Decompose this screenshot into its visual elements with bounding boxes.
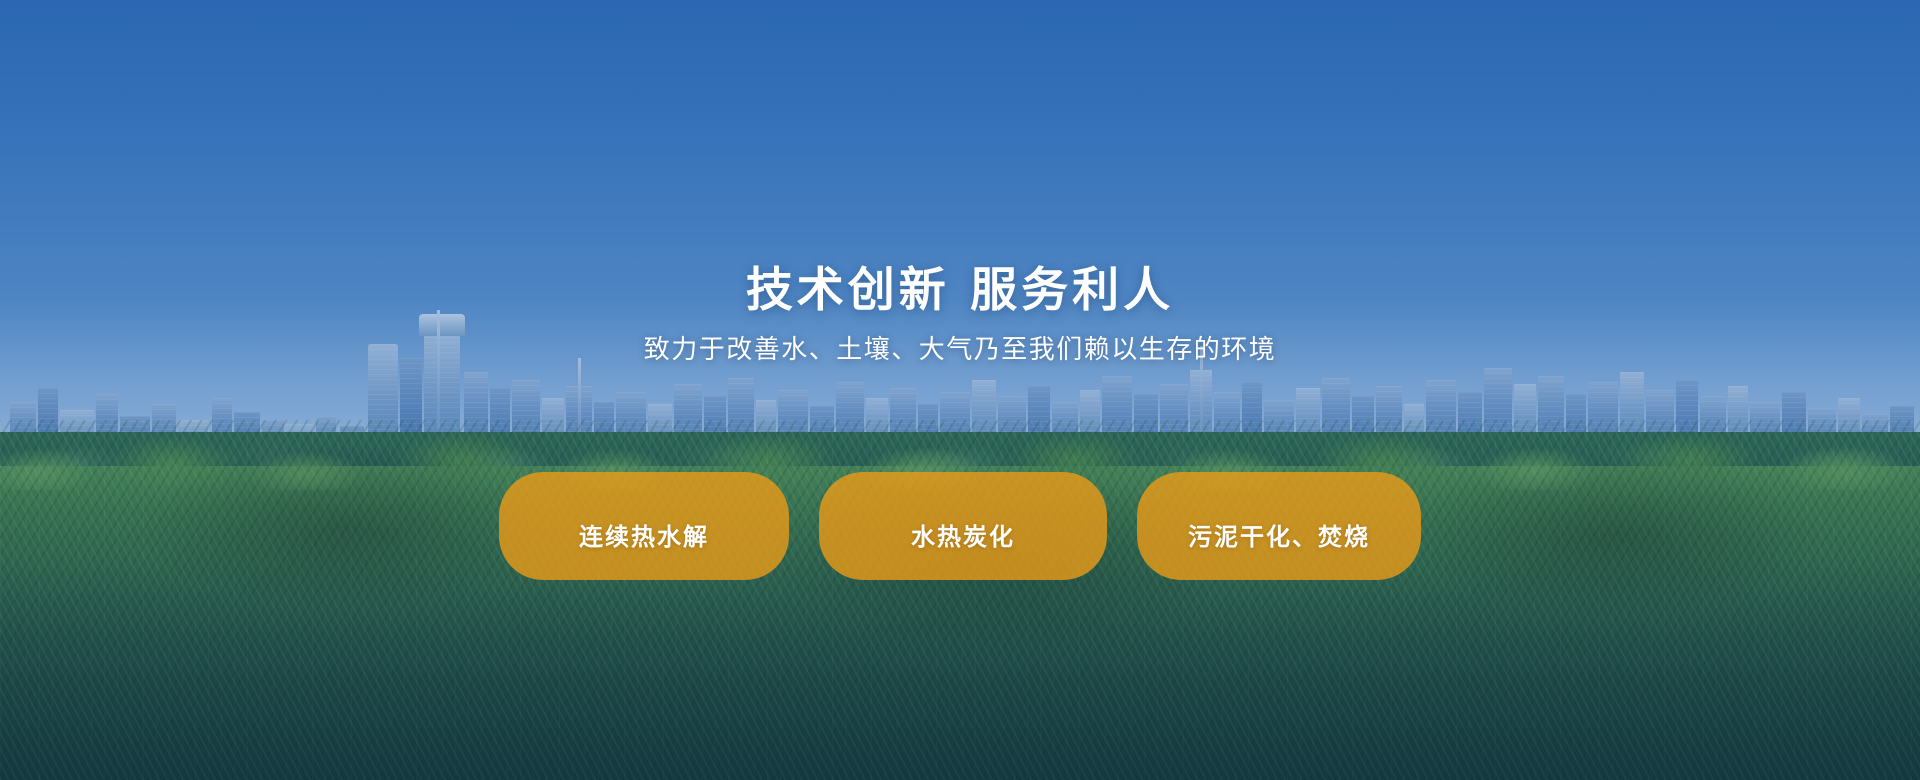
hero-copy: 技术创新 服务利人 致力于改善水、土壤、大气乃至我们赖以生存的环境 <box>0 0 1920 780</box>
pill-label: 连续热水解 <box>579 517 709 552</box>
hero-banner: 技术创新 服务利人 致力于改善水、土壤、大气乃至我们赖以生存的环境 连续热水解 … <box>0 0 1920 780</box>
pill-label: 污泥干化、焚烧 <box>1188 517 1370 552</box>
pill-label: 水热炭化 <box>911 517 1015 552</box>
page-title: 技术创新 服务利人 <box>746 265 1174 318</box>
page-subtitle: 致力于改善水、土壤、大气乃至我们赖以生存的环境 <box>644 335 1277 366</box>
pill-button-sludge-drying-incineration[interactable]: 污泥干化、焚烧 <box>1137 472 1421 580</box>
pill-button-continuous-thermal-hydrolysis[interactable]: 连续热水解 <box>499 472 789 580</box>
service-pill-group: 连续热水解 水热炭化 污泥干化、焚烧 <box>499 472 1421 580</box>
pill-button-hydrothermal-carbonization[interactable]: 水热炭化 <box>819 472 1107 580</box>
